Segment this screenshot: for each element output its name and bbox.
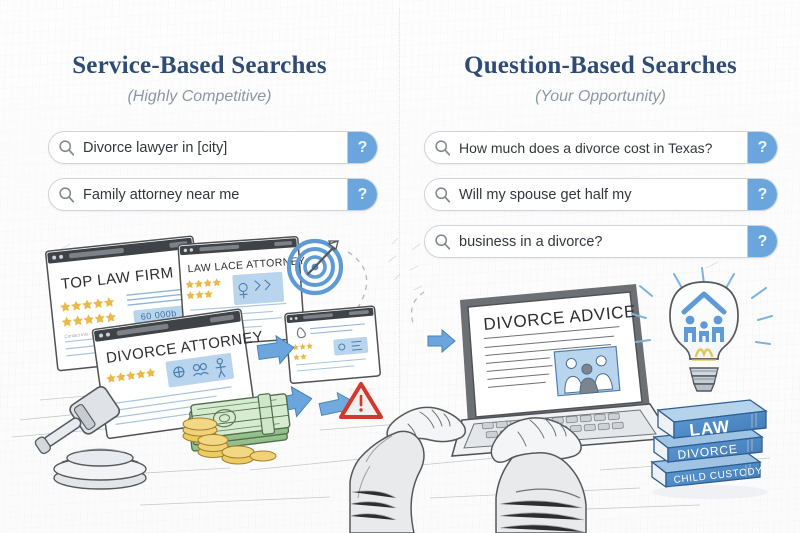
- search-query-text: Will my spouse get half my: [459, 187, 747, 203]
- infographic-canvas: .ink{fill:none;stroke:#56585c;stroke-wid…: [0, 0, 800, 533]
- search-submit-button[interactable]: ?: [347, 132, 377, 163]
- search-bar-left-1[interactable]: Divorce lawyer in [city] ?: [48, 131, 378, 164]
- blue-arrow-icon-right: [428, 330, 455, 352]
- right-column-header: Question-Based Searches (Your Opportunit…: [401, 52, 800, 106]
- search-query-text: Divorce lawyer in [city]: [83, 140, 347, 156]
- book-stack-icon: CHILD CUSTODY DIVORCE LAW: [652, 400, 768, 499]
- lightbulb-icon: [632, 268, 772, 391]
- right-column-title: Question-Based Searches: [401, 52, 800, 80]
- search-submit-button[interactable]: ?: [747, 132, 777, 163]
- left-column-title: Service-Based Searches: [0, 52, 399, 80]
- search-icon: [49, 186, 83, 203]
- search-query-text: How much does a divorce cost in Texas?: [459, 140, 747, 156]
- search-submit-button[interactable]: ?: [747, 179, 777, 210]
- search-bar-right-3[interactable]: business in a divorce? ?: [424, 225, 778, 258]
- left-column-header: Service-Based Searches (Highly Competiti…: [0, 52, 399, 106]
- dashed-curve: [412, 292, 424, 326]
- search-query-text: business in a divorce?: [459, 234, 747, 250]
- search-submit-button[interactable]: ?: [347, 179, 377, 210]
- search-icon: [425, 233, 459, 250]
- browser-window-search-result: [285, 306, 381, 384]
- search-icon: [425, 186, 459, 203]
- search-bar-right-2[interactable]: Will my spouse get half my ?: [424, 178, 778, 211]
- search-submit-button[interactable]: ?: [747, 226, 777, 257]
- left-column-subtitle: (Highly Competitive): [0, 88, 399, 106]
- search-bar-left-2[interactable]: Family attorney near me ?: [48, 178, 378, 211]
- search-query-text: Family attorney near me: [83, 187, 347, 203]
- right-column-subtitle: (Your Opportunity): [401, 88, 800, 106]
- search-icon: [49, 139, 83, 156]
- search-icon: [425, 139, 459, 156]
- search-bar-right-1[interactable]: How much does a divorce cost in Texas? ?: [424, 131, 778, 164]
